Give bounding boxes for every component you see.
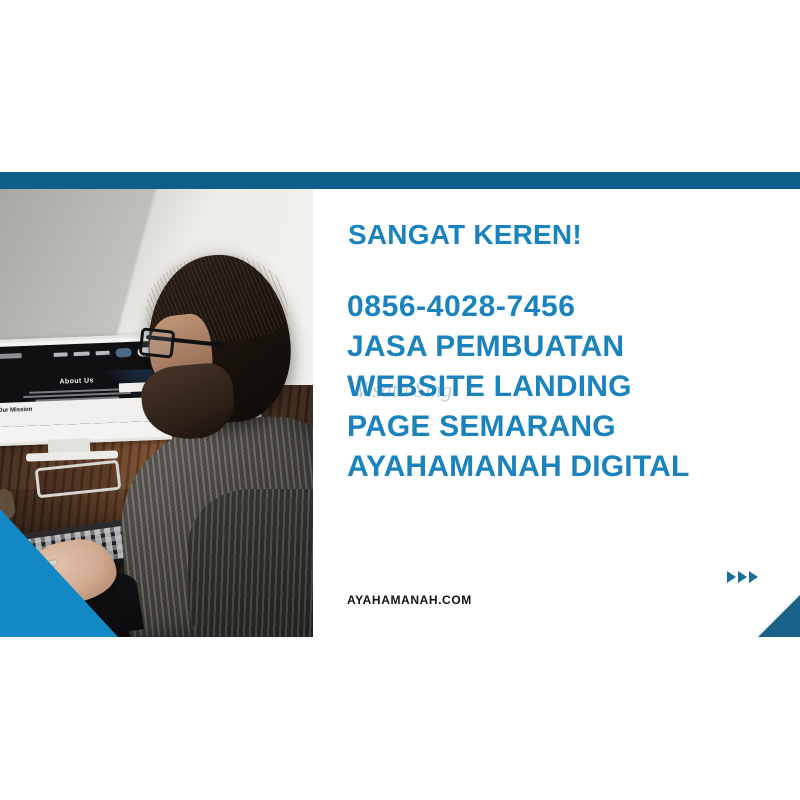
person-shoulder [188, 489, 313, 637]
headline-line-2: JASA PEMBUATAN [347, 327, 797, 367]
screen-nav-link [54, 352, 68, 357]
screen-nav-link [96, 351, 110, 356]
play-arrow-icon [727, 571, 736, 583]
top-blue-rule [0, 172, 800, 189]
play-arrow-icon [749, 571, 758, 583]
eyebrow-text: SANGAT KEREN! [348, 219, 582, 251]
corner-triangle-icon [758, 595, 800, 637]
banner-body: About Us Our Mission [0, 189, 800, 637]
top-white-gutter [0, 0, 800, 172]
screen-footer-heading: Our Mission [0, 407, 33, 414]
screen-site-nav [0, 347, 156, 362]
glasses-lens-icon [139, 327, 176, 358]
play-arrow-icon [738, 571, 747, 583]
headline-line-3: WEBSITE LANDING [347, 367, 797, 407]
arrow-group [727, 571, 758, 583]
bottom-white-gutter [0, 637, 800, 800]
banner-stage: About Us Our Mission [0, 0, 800, 800]
screen-heading: About Us [59, 377, 94, 385]
headline-line-5: AYAHAMANAH DIGITAL [347, 447, 797, 487]
headline-line-phone: 0856-4028-7456 [347, 287, 797, 327]
screen-nav-link [74, 351, 90, 356]
headline-block: 0856-4028-7456 JASA PEMBUATAN WEBSITE LA… [347, 287, 797, 487]
screen-nav-pill [115, 348, 131, 358]
screen-footer: Our Mission [0, 397, 164, 428]
site-url-text[interactable]: AYAHAMANAH.COM [347, 593, 472, 607]
headline-line-4: PAGE SEMARANG [347, 407, 797, 447]
text-panel: SANGAT KEREN! Wisata Smg 0856-4028-7456 … [313, 189, 800, 637]
screen-site-logo [0, 353, 22, 359]
hero-photo: About Us Our Mission [0, 189, 313, 637]
